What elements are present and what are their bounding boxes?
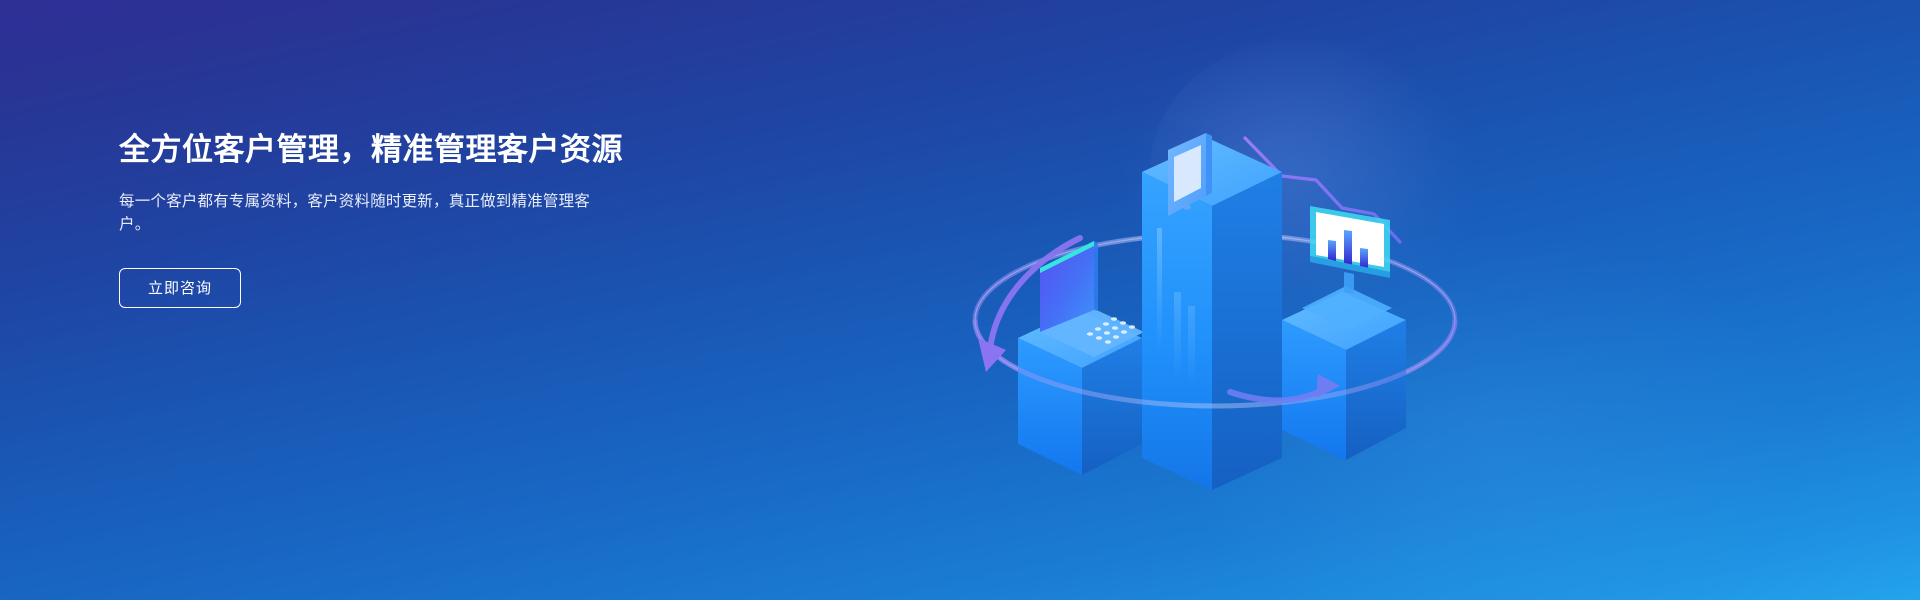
hero-copy-block: 全方位客户管理，精准管理客户资源 每一个客户都有专属资料，客户资料随时更新，真正… (119, 128, 739, 308)
page-title: 全方位客户管理，精准管理客户资源 (119, 128, 739, 172)
hero-subtitle: 每一个客户都有专属资料，客户资料随时更新，真正做到精准管理客户。 (119, 190, 601, 236)
consult-now-button[interactable]: 立即咨询 (119, 268, 241, 308)
monitor-icon (1302, 206, 1392, 330)
hero-illustration (930, 20, 1490, 580)
hero-banner: 全方位客户管理，精准管理客户资源 每一个客户都有专属资料，客户资料随时更新，真正… (0, 0, 1920, 600)
